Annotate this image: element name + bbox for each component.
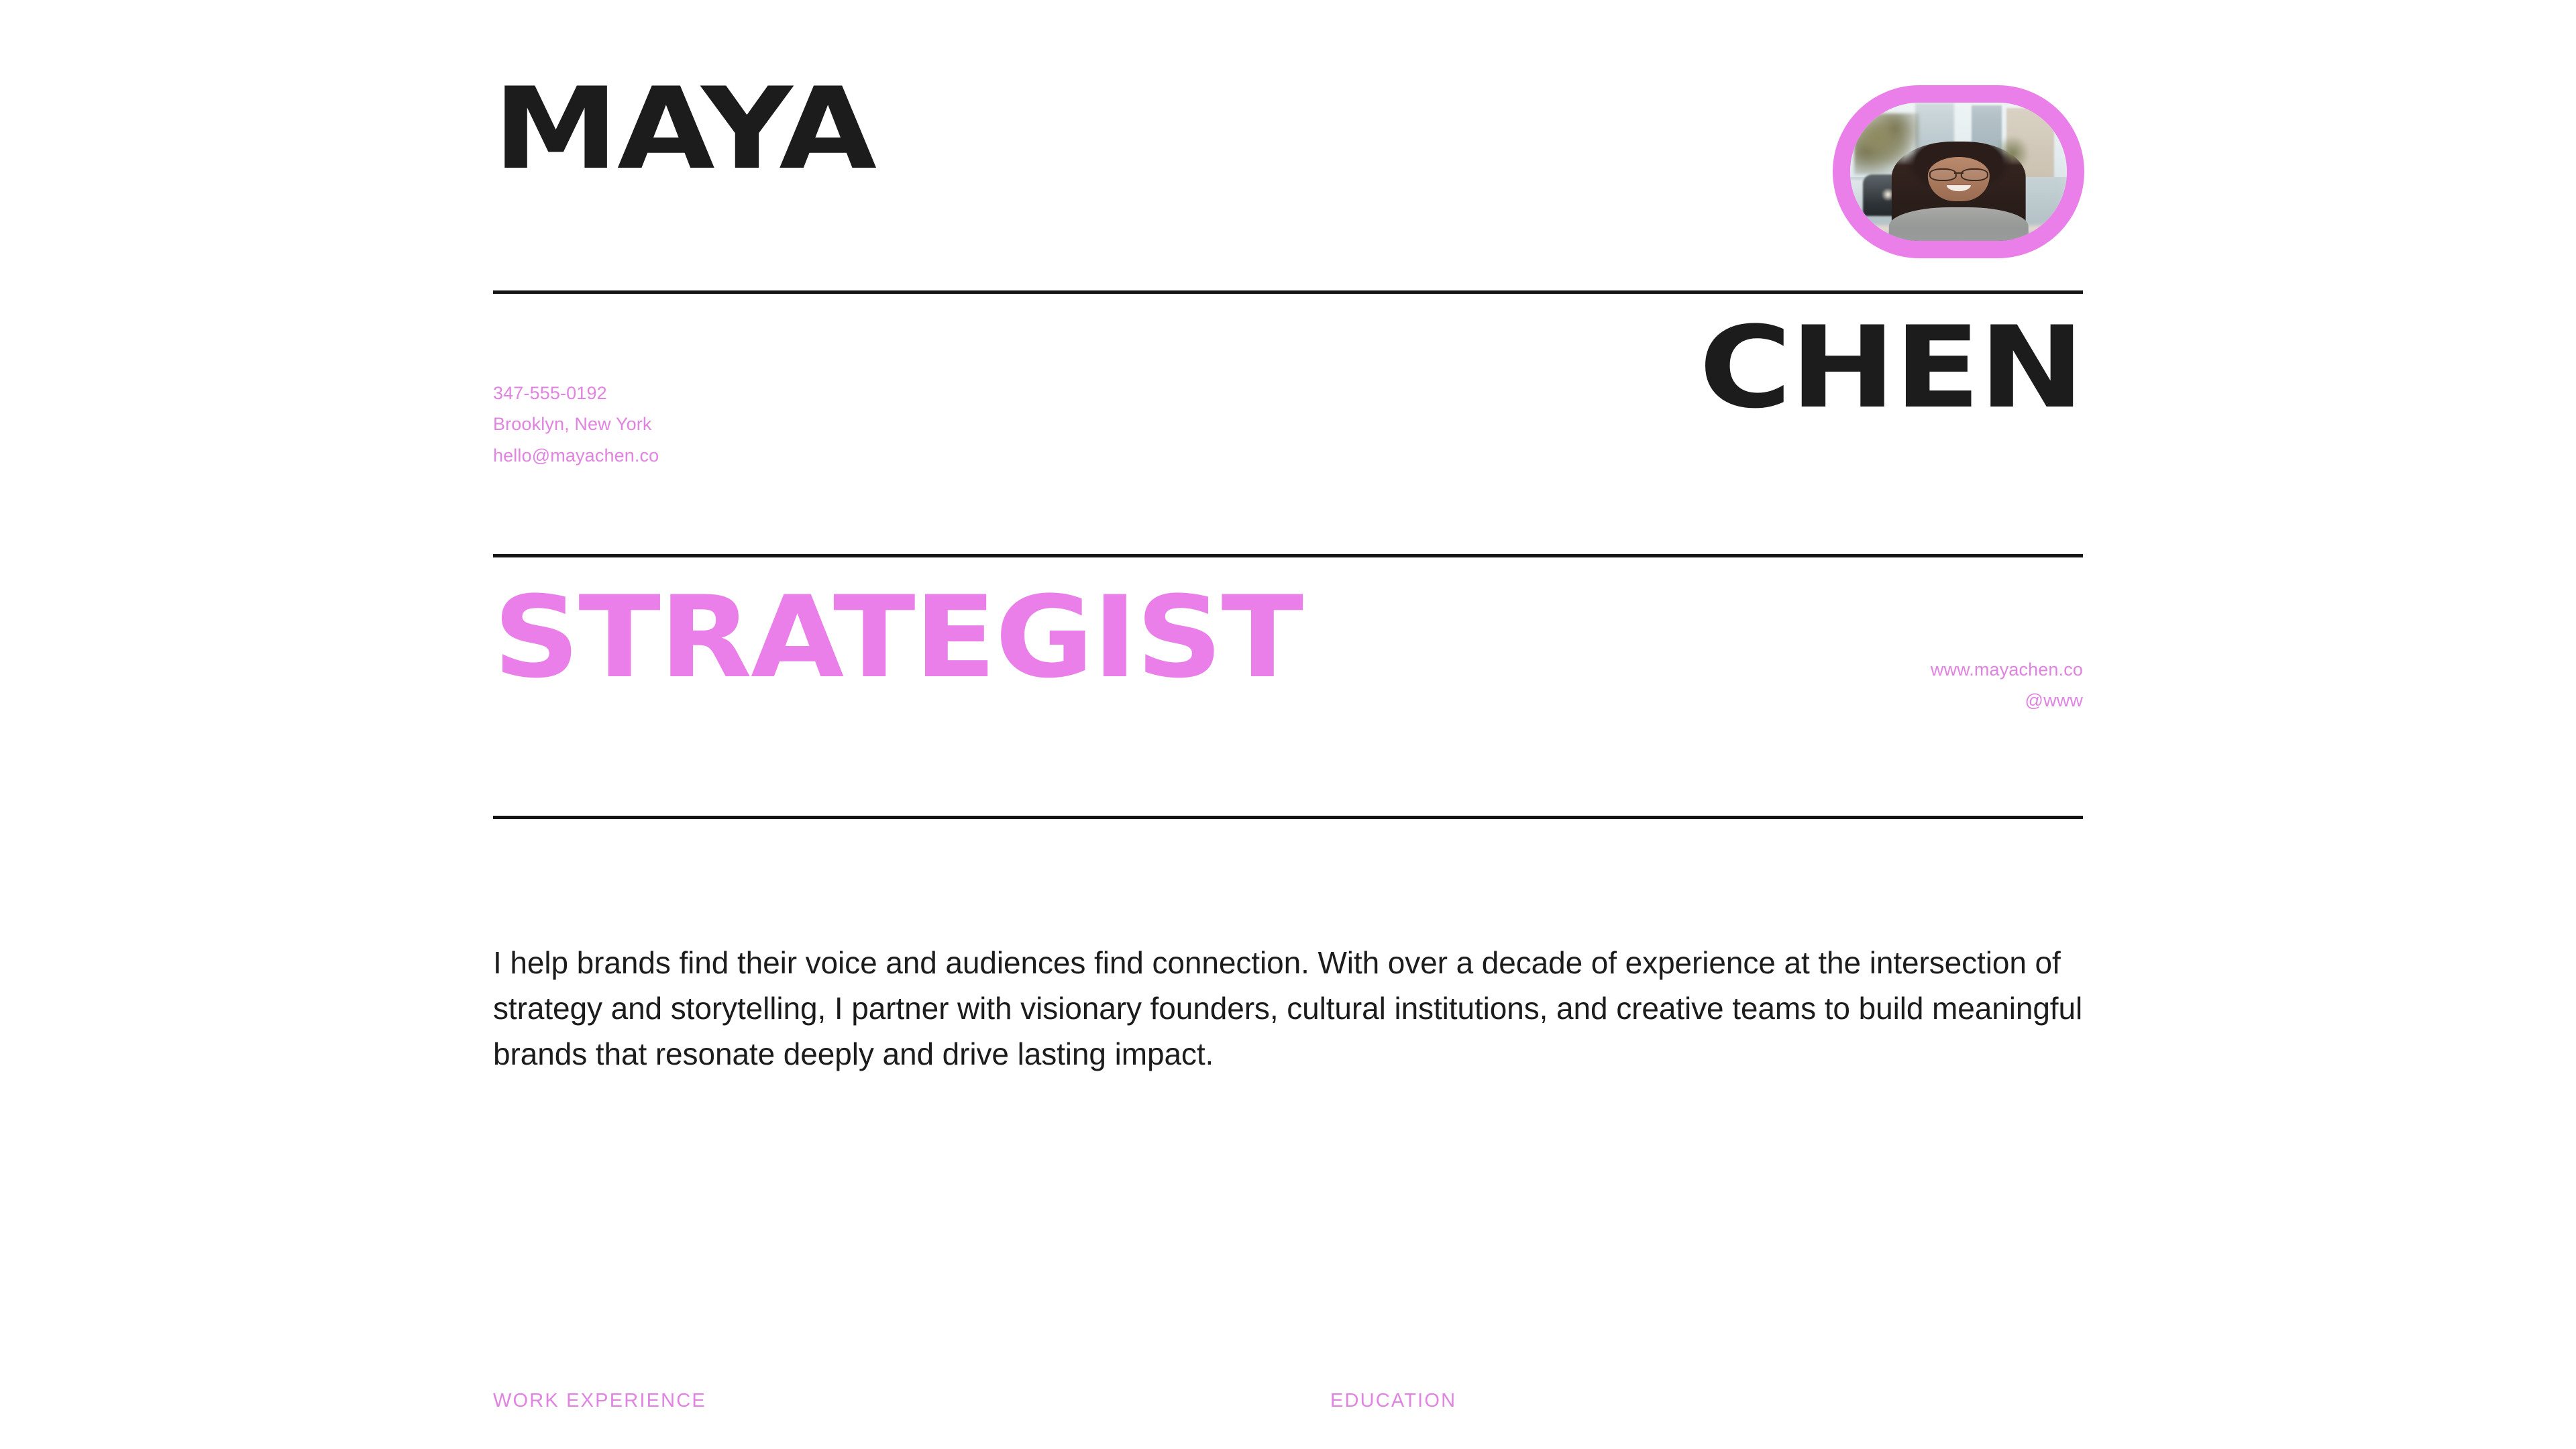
- portrait-photo: [1850, 103, 2067, 241]
- contact-email[interactable]: hello@mayachen.co: [493, 440, 659, 471]
- divider-1: [493, 290, 2083, 294]
- section-header-education: EDUCATION: [1330, 1390, 1456, 1412]
- photo-vignette: [1850, 103, 2067, 241]
- page-title-last-name-wrap: CHEN: [493, 321, 2083, 415]
- divider-2: [493, 554, 2083, 557]
- page-title-first-name: MAYA: [493, 82, 875, 176]
- social-handle[interactable]: @www: [493, 685, 2083, 716]
- bio-paragraph: I help brands find their voice and audie…: [493, 940, 2096, 1077]
- portrait-frame: [1833, 85, 2084, 258]
- website-link[interactable]: www.mayachen.co: [493, 654, 2083, 685]
- weblinks-block: www.mayachen.co @www: [493, 654, 2083, 716]
- page-title-last-name: CHEN: [1699, 321, 2083, 415]
- divider-3: [493, 816, 2083, 819]
- resume-page: MAYA: [0, 0, 2576, 1449]
- section-header-work-experience: WORK EXPERIENCE: [493, 1390, 706, 1412]
